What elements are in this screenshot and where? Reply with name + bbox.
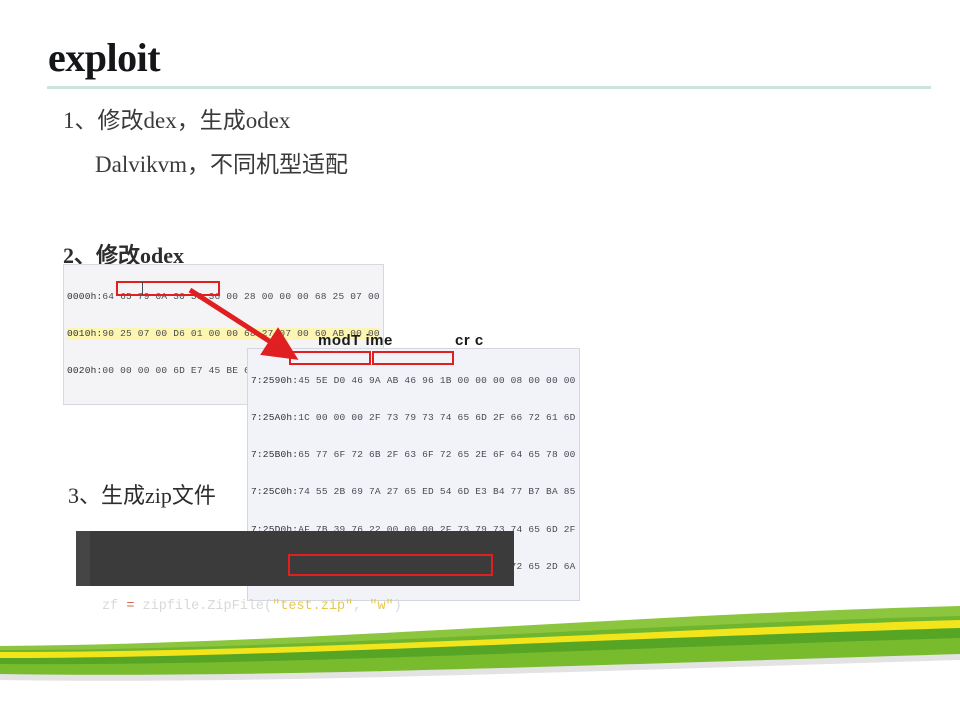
bullet-line-2: Dalvikvm，不同机型适配 (95, 145, 348, 179)
hex-row: 7:25C0h:74 55 2B 69 7A 27 65 ED 54 6D E3… (251, 486, 576, 498)
hex-row: 7:25A0h:1C 00 00 00 2F 73 79 73 74 65 6D… (251, 412, 576, 424)
code-block-zip: zf = zipfile.ZipFile("test.zip", "w") zf… (76, 531, 514, 586)
hex-offset: 7:2590h: (251, 375, 298, 386)
code-gutter (76, 531, 90, 586)
title-divider (47, 86, 931, 89)
hex-row: 7:2590h:45 5E D0 46 9A AB 46 96 1B 00 00… (251, 375, 576, 387)
hex-offset: 7:25A0h: (251, 412, 298, 423)
decorative-swoosh (0, 600, 960, 720)
annotation-box-divider (142, 282, 143, 295)
bullet-line-1: 1、修改dex，生成odex (63, 101, 290, 135)
hex-offset: 0010h: (67, 328, 102, 339)
hex-offset: 0020h: (67, 365, 102, 376)
hex-bytes: 45 5E D0 46 9A AB 46 96 1B 00 00 00 08 0… (298, 375, 575, 386)
slide-canvas: exploit 1、修改dex，生成odex Dalvikvm，不同机型适配 2… (0, 0, 960, 720)
bullet-line-4: 3、生成zip文件 (68, 478, 216, 510)
hex-bytes: 65 77 6F 72 6B 2F 63 6F 72 65 2E 6F 64 6… (298, 449, 575, 460)
red-arrow-icon (180, 280, 340, 370)
page-title: exploit (48, 36, 160, 80)
hex-offset: 7:25B0h: (251, 449, 298, 460)
hex-offset: 0000h: (67, 291, 102, 302)
hex-row: 7:25B0h:65 77 6F 72 6B 2F 63 6F 72 65 2E… (251, 449, 576, 461)
hex-offset: 7:25C0h: (251, 486, 298, 497)
hex-bytes: 1C 00 00 00 2F 73 79 73 74 65 6D 2F 66 7… (298, 412, 575, 423)
hex-bytes: 74 55 2B 69 7A 27 65 ED 54 6D E3 B4 77 B… (298, 486, 575, 497)
label-crc: cr c (455, 332, 484, 349)
